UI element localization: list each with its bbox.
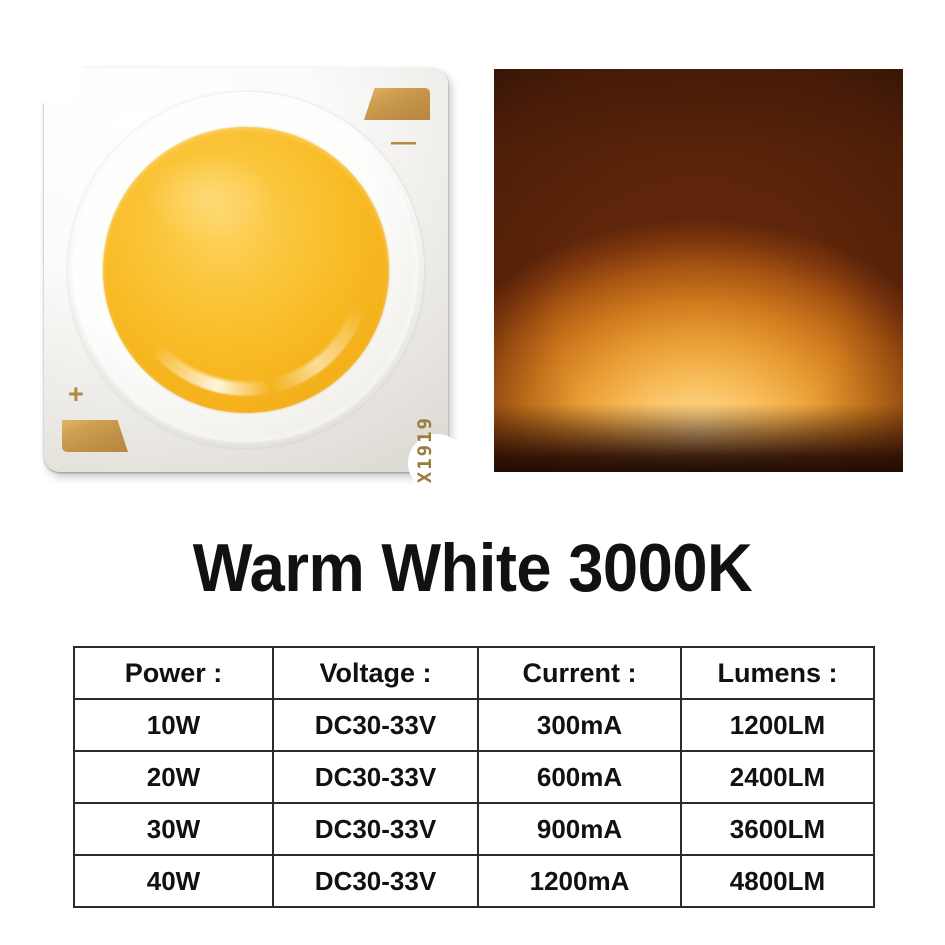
cell-voltage: DC30-33V [273, 751, 478, 803]
column-header-current: Current : [478, 647, 681, 699]
page-title: Warm White 3000K [33, 529, 912, 607]
cell-voltage: DC30-33V [273, 855, 478, 907]
cell-power: 10W [74, 699, 273, 751]
column-header-lumens: Lumens : [681, 647, 874, 699]
solder-pad-negative [364, 88, 430, 120]
cell-current: 1200mA [478, 855, 681, 907]
solder-pad-positive [62, 420, 128, 452]
cell-power: 20W [74, 751, 273, 803]
corner-notch-top-left [26, 48, 84, 106]
table-header-row: Power : Voltage : Current : Lumens : [74, 647, 874, 699]
table-row: 20W DC30-33V 600mA 2400LM [74, 751, 874, 803]
product-listing-image: + — X1919 Warm White 3000K Power : Volta… [0, 0, 945, 945]
cell-current: 600mA [478, 751, 681, 803]
phosphor-emitting-disc [103, 127, 389, 413]
cell-power: 40W [74, 855, 273, 907]
cell-current: 300mA [478, 699, 681, 751]
table-row: 10W DC30-33V 300mA 1200LM [74, 699, 874, 751]
column-header-power: Power : [74, 647, 273, 699]
cell-current: 900mA [478, 803, 681, 855]
cell-lumens: 2400LM [681, 751, 874, 803]
cob-led-chip-photo: + — X1919 [38, 62, 466, 486]
chip-code-marking: X1919 [414, 416, 436, 483]
cell-lumens: 1200LM [681, 699, 874, 751]
table-row: 30W DC30-33V 900mA 3600LM [74, 803, 874, 855]
chip-substrate: + — X1919 [44, 68, 448, 472]
spec-table-container: Power : Voltage : Current : Lumens : 10W… [73, 646, 873, 908]
cell-lumens: 3600LM [681, 803, 874, 855]
led-beam-glow-photo [494, 69, 903, 472]
beam-vignette [494, 69, 903, 472]
polarity-minus-marking: — [391, 130, 415, 155]
polarity-plus-marking: + [68, 381, 84, 408]
photo-row: + — X1919 [0, 0, 945, 512]
column-header-voltage: Voltage : [273, 647, 478, 699]
cell-power: 30W [74, 803, 273, 855]
cell-lumens: 4800LM [681, 855, 874, 907]
cell-voltage: DC30-33V [273, 803, 478, 855]
specification-table: Power : Voltage : Current : Lumens : 10W… [73, 646, 875, 908]
table-row: 40W DC30-33V 1200mA 4800LM [74, 855, 874, 907]
cell-voltage: DC30-33V [273, 699, 478, 751]
